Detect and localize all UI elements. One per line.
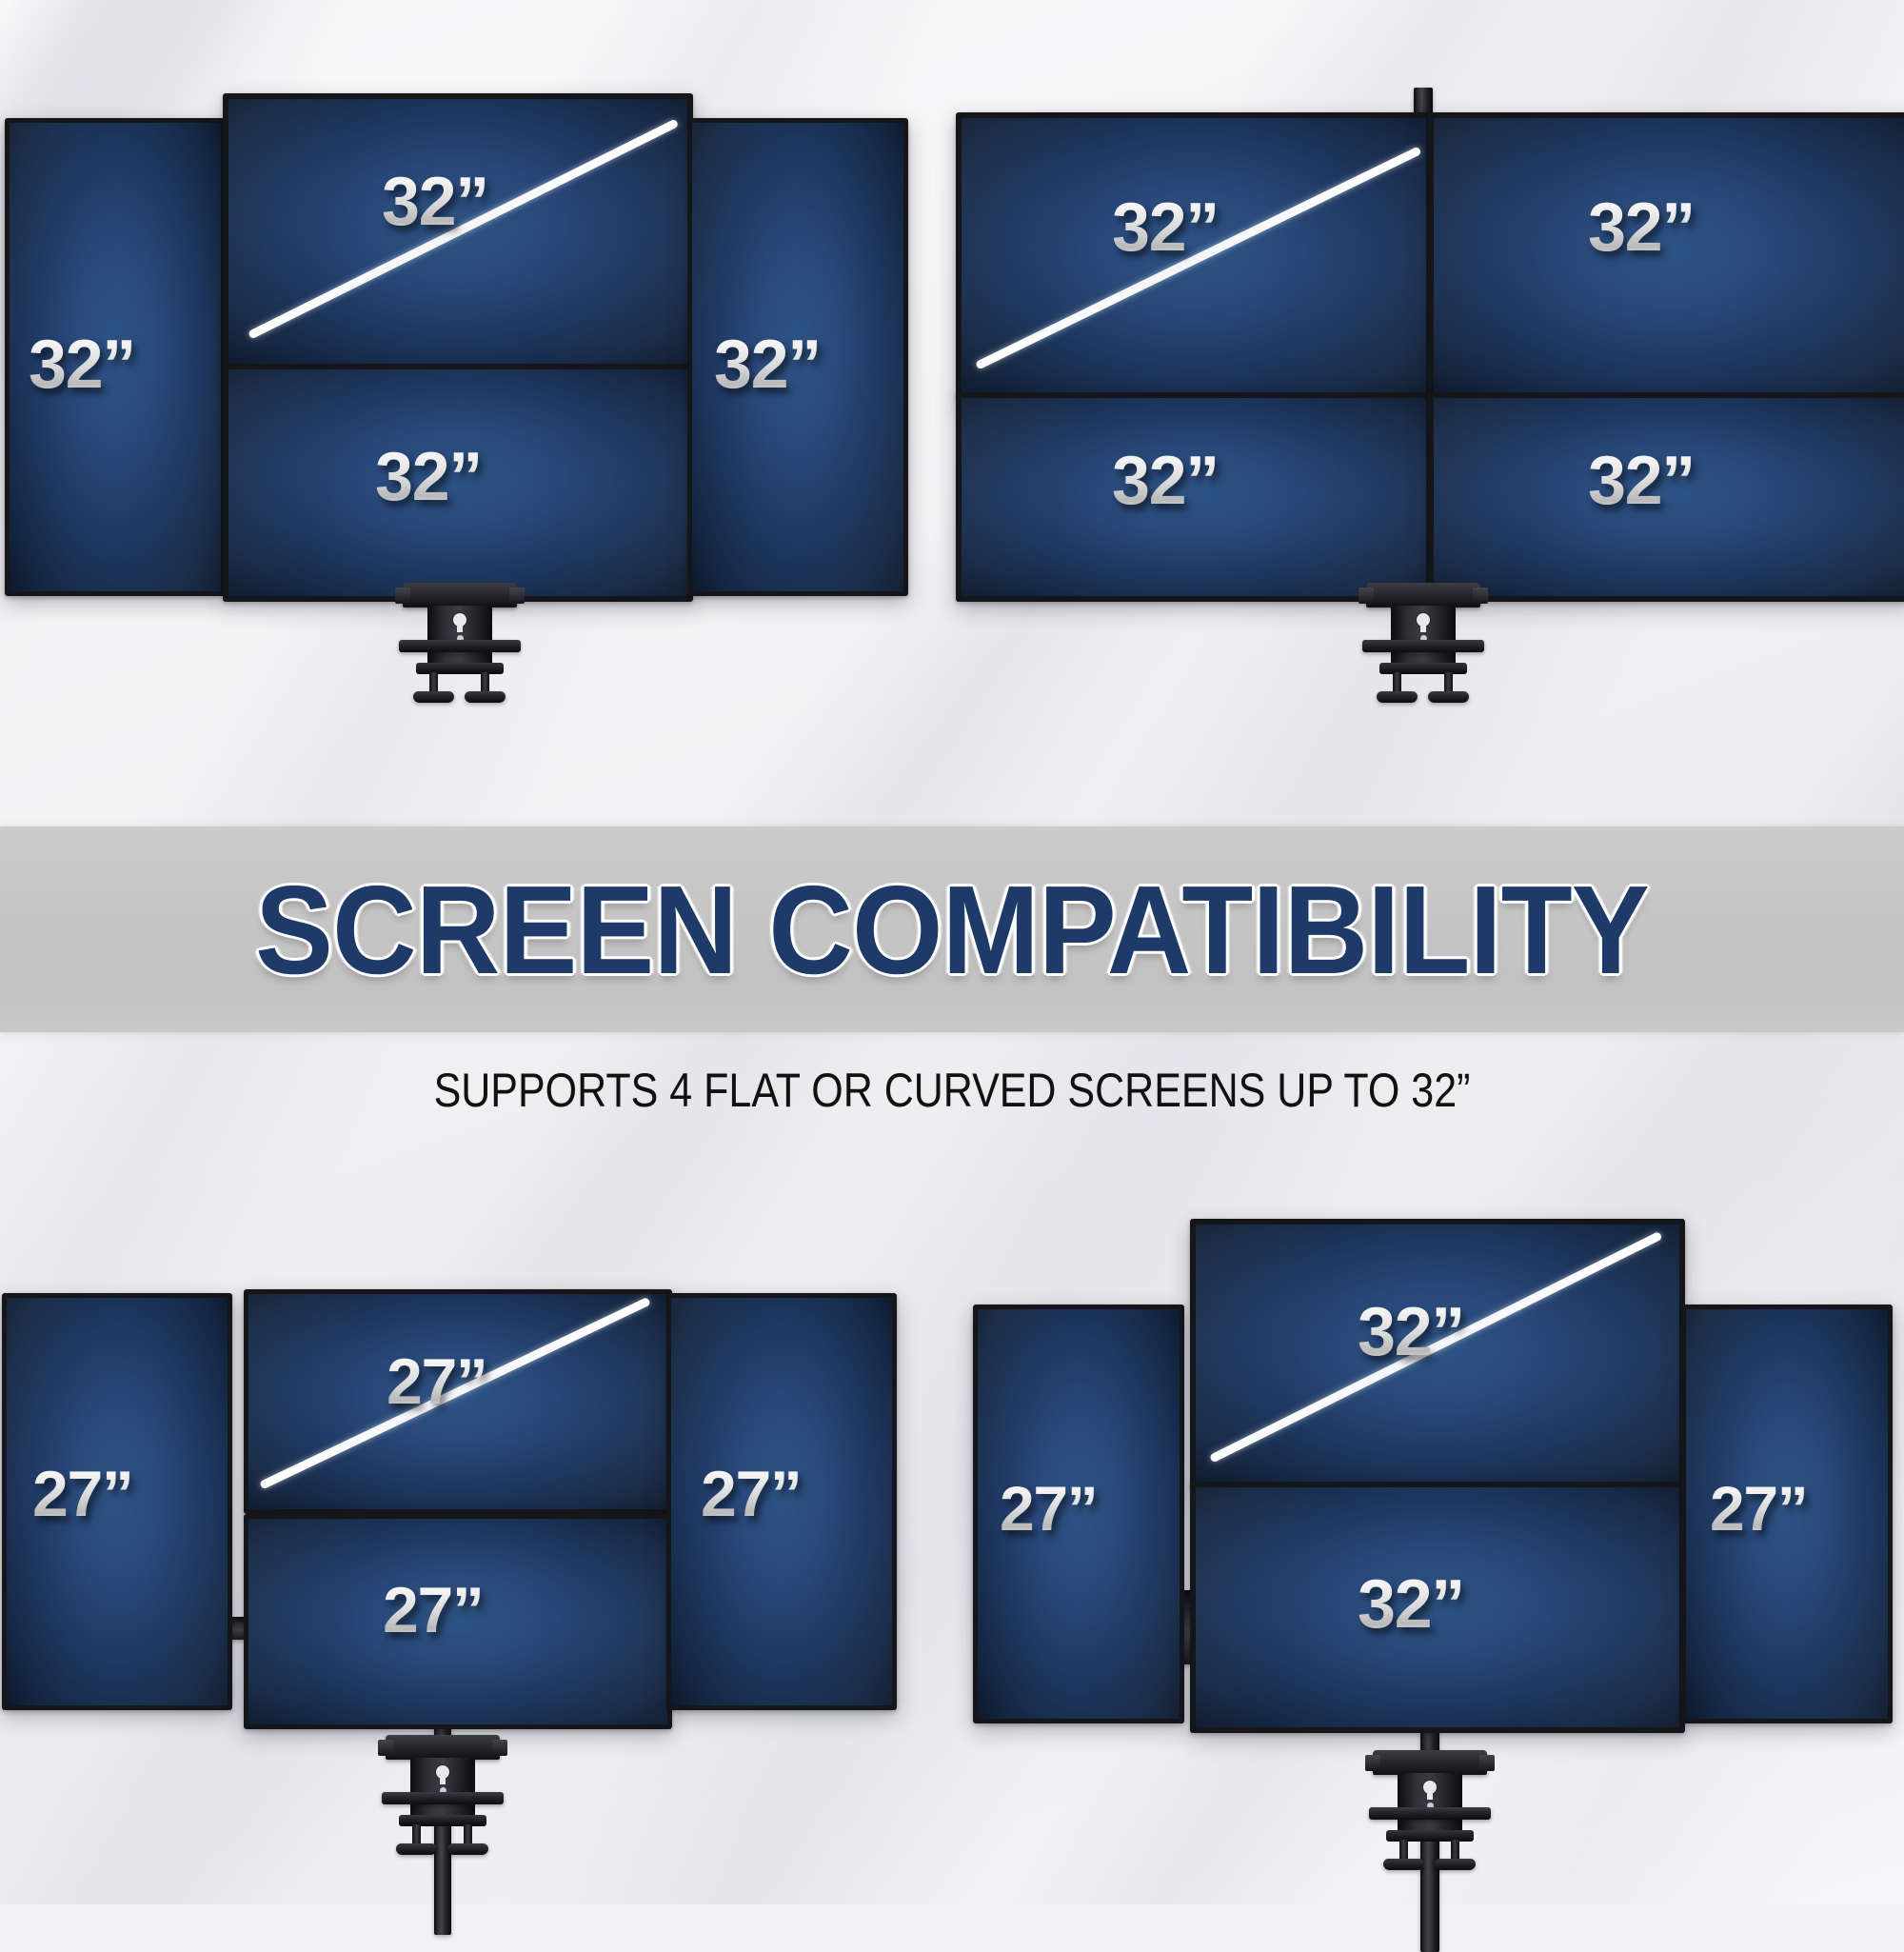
screen-center-top: 32” (223, 93, 693, 369)
banner-subtitle: SUPPORTS 4 FLAT OR CURVED SCREENS UP TO … (133, 1063, 1771, 1118)
clamp-top-plate (1373, 1750, 1487, 1775)
screen-left-portrait: 27” (973, 1305, 1184, 1723)
screen-size-label: 32” (375, 438, 482, 516)
desk-clamp-mount (1373, 1750, 1487, 1870)
screen-size-label: 32” (1588, 189, 1695, 267)
desk-clamp-mount (1366, 583, 1480, 703)
desk-clamp-mount (403, 583, 517, 703)
clamp-keyhole (436, 1765, 449, 1779)
clamp-cross-bar (382, 1792, 504, 1804)
clamp-top-plate (403, 583, 517, 608)
screen-center-bottom: 32” (1190, 1482, 1685, 1733)
screen-size-label: 32” (1588, 442, 1695, 520)
clamp-top-plate (1366, 583, 1480, 608)
screen-grid-top-left: 32” (956, 112, 1432, 400)
screen-grid-bottom-right: 32” (1428, 392, 1904, 602)
screen-size-label: 32” (714, 326, 821, 404)
screen-size-label: 27” (1000, 1472, 1097, 1544)
screen-right-portrait: 27” (1681, 1305, 1893, 1723)
monitor-layout-bottom-right: 27” 32” 32” 27” (952, 1143, 1904, 1904)
screen-size-label: 27” (32, 1457, 133, 1531)
desk-clamp-mount (386, 1735, 500, 1855)
monitor-layout-bottom-left: 27” 27” 27” 27” (0, 1143, 952, 1904)
clamp-screw-right (481, 672, 489, 695)
clamp-screw-right (464, 1824, 472, 1847)
screen-center-bottom: 27” (244, 1514, 672, 1729)
screen-center-top: 32” (1190, 1219, 1685, 1489)
screen-size-label: 32” (1112, 189, 1219, 267)
screen-left-portrait: 27” (2, 1293, 232, 1710)
clamp-keyhole (453, 613, 466, 627)
screen-size-label: 27” (1710, 1472, 1807, 1544)
screen-size-label: 32” (1358, 1293, 1464, 1371)
screen-right-portrait: 32” (687, 118, 908, 596)
monitor-layout-top-right: 32” 32” 32” 32” (952, 0, 1904, 762)
clamp-screw-left (429, 672, 438, 695)
clamp-cross-bar (1362, 640, 1484, 652)
clamp-keyhole (1417, 613, 1430, 627)
screen-grid-bottom-left: 32” (956, 392, 1432, 602)
monitor-layout-top-left: 32” 32” 32” 32” (0, 0, 952, 762)
screen-center-bottom: 32” (223, 364, 693, 602)
clamp-screw-right (1444, 672, 1453, 695)
clamp-top-plate (386, 1735, 500, 1760)
screen-size-label: 27” (383, 1573, 484, 1647)
page-title: SCREEN COMPATIBILITY (255, 858, 1649, 1002)
screen-size-label: 32” (1358, 1565, 1464, 1643)
screen-center-top: 27” (244, 1289, 672, 1514)
clamp-keyhole (1423, 1781, 1437, 1794)
clamp-screw-left (1399, 1840, 1408, 1862)
screen-size-label: 32” (382, 163, 488, 241)
screen-size-label: 32” (29, 326, 135, 404)
screen-grid-top-right: 32” (1428, 112, 1904, 400)
clamp-cross-bar (1369, 1807, 1491, 1820)
screen-size-label: 32” (1112, 442, 1219, 520)
screen-size-label: 27” (701, 1457, 802, 1531)
clamp-screw-left (412, 1824, 421, 1847)
clamp-screw-left (1393, 672, 1401, 695)
screen-right-portrait: 27” (666, 1293, 897, 1710)
screen-left-portrait: 32” (5, 118, 226, 596)
clamp-screw-right (1451, 1840, 1459, 1862)
clamp-cross-bar (399, 640, 521, 652)
section-banner: SCREEN COMPATIBILITY (0, 827, 1904, 1032)
screen-size-label: 27” (387, 1344, 487, 1419)
